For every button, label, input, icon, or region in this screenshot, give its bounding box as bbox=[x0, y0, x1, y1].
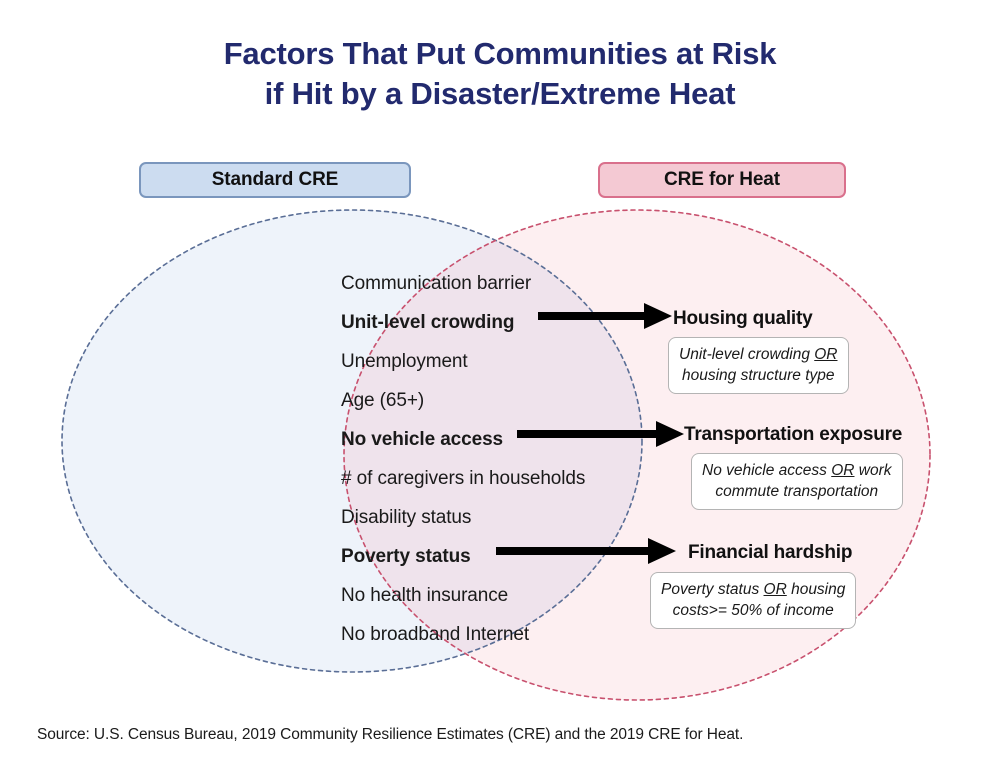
note-line-2: housing structure type bbox=[679, 365, 838, 386]
note-text-or: OR bbox=[814, 346, 837, 363]
note-line-1: Poverty status OR housing bbox=[661, 579, 845, 600]
note-text-or: OR bbox=[831, 462, 854, 479]
note-text-post: work bbox=[854, 462, 891, 479]
factor-item: Poverty status bbox=[341, 537, 641, 576]
note-text-pre: No vehicle access bbox=[702, 462, 831, 479]
factor-item: Disability status bbox=[341, 498, 641, 537]
legend-cre-for-heat-label: CRE for Heat bbox=[664, 169, 780, 191]
factor-list: Communication barrier Unit-level crowdin… bbox=[341, 264, 641, 654]
legend-cre-for-heat[interactable]: CRE for Heat bbox=[598, 162, 846, 198]
factor-item: Age (65+) bbox=[341, 381, 641, 420]
note-text-or: OR bbox=[764, 581, 787, 598]
diagram-canvas: Factors That Put Communities at Risk if … bbox=[0, 0, 1000, 771]
outcome-label-transportation-exposure: Transportation exposure bbox=[684, 424, 902, 446]
note-text-post: housing bbox=[787, 581, 846, 598]
note-box-financial-hardship: Poverty status OR housing costs>= 50% of… bbox=[650, 572, 856, 629]
note-box-transportation-exposure: No vehicle access OR work commute transp… bbox=[691, 453, 903, 510]
factor-item: # of caregivers in households bbox=[341, 459, 641, 498]
factor-item: Unit-level crowding bbox=[341, 303, 641, 342]
factor-item: No health insurance bbox=[341, 576, 641, 615]
note-line-1: No vehicle access OR work bbox=[702, 460, 892, 481]
legend-standard-cre-label: Standard CRE bbox=[212, 169, 339, 191]
note-line-1: Unit-level crowding OR bbox=[679, 344, 838, 365]
factor-item: Unemployment bbox=[341, 342, 641, 381]
factor-item: No broadband Internet bbox=[341, 615, 641, 654]
note-box-housing-quality: Unit-level crowding OR housing structure… bbox=[668, 337, 849, 394]
note-text-pre: Unit-level crowding bbox=[679, 346, 814, 363]
note-line-2: costs>= 50% of income bbox=[661, 600, 845, 621]
factor-item: Communication barrier bbox=[341, 264, 641, 303]
outcome-label-housing-quality: Housing quality bbox=[673, 308, 813, 330]
factor-item: No vehicle access bbox=[341, 420, 641, 459]
source-note: Source: U.S. Census Bureau, 2019 Communi… bbox=[37, 726, 743, 744]
outcome-label-financial-hardship: Financial hardship bbox=[688, 542, 852, 564]
note-text-pre: Poverty status bbox=[661, 581, 764, 598]
note-line-2: commute transportation bbox=[702, 481, 892, 502]
legend-standard-cre[interactable]: Standard CRE bbox=[139, 162, 411, 198]
